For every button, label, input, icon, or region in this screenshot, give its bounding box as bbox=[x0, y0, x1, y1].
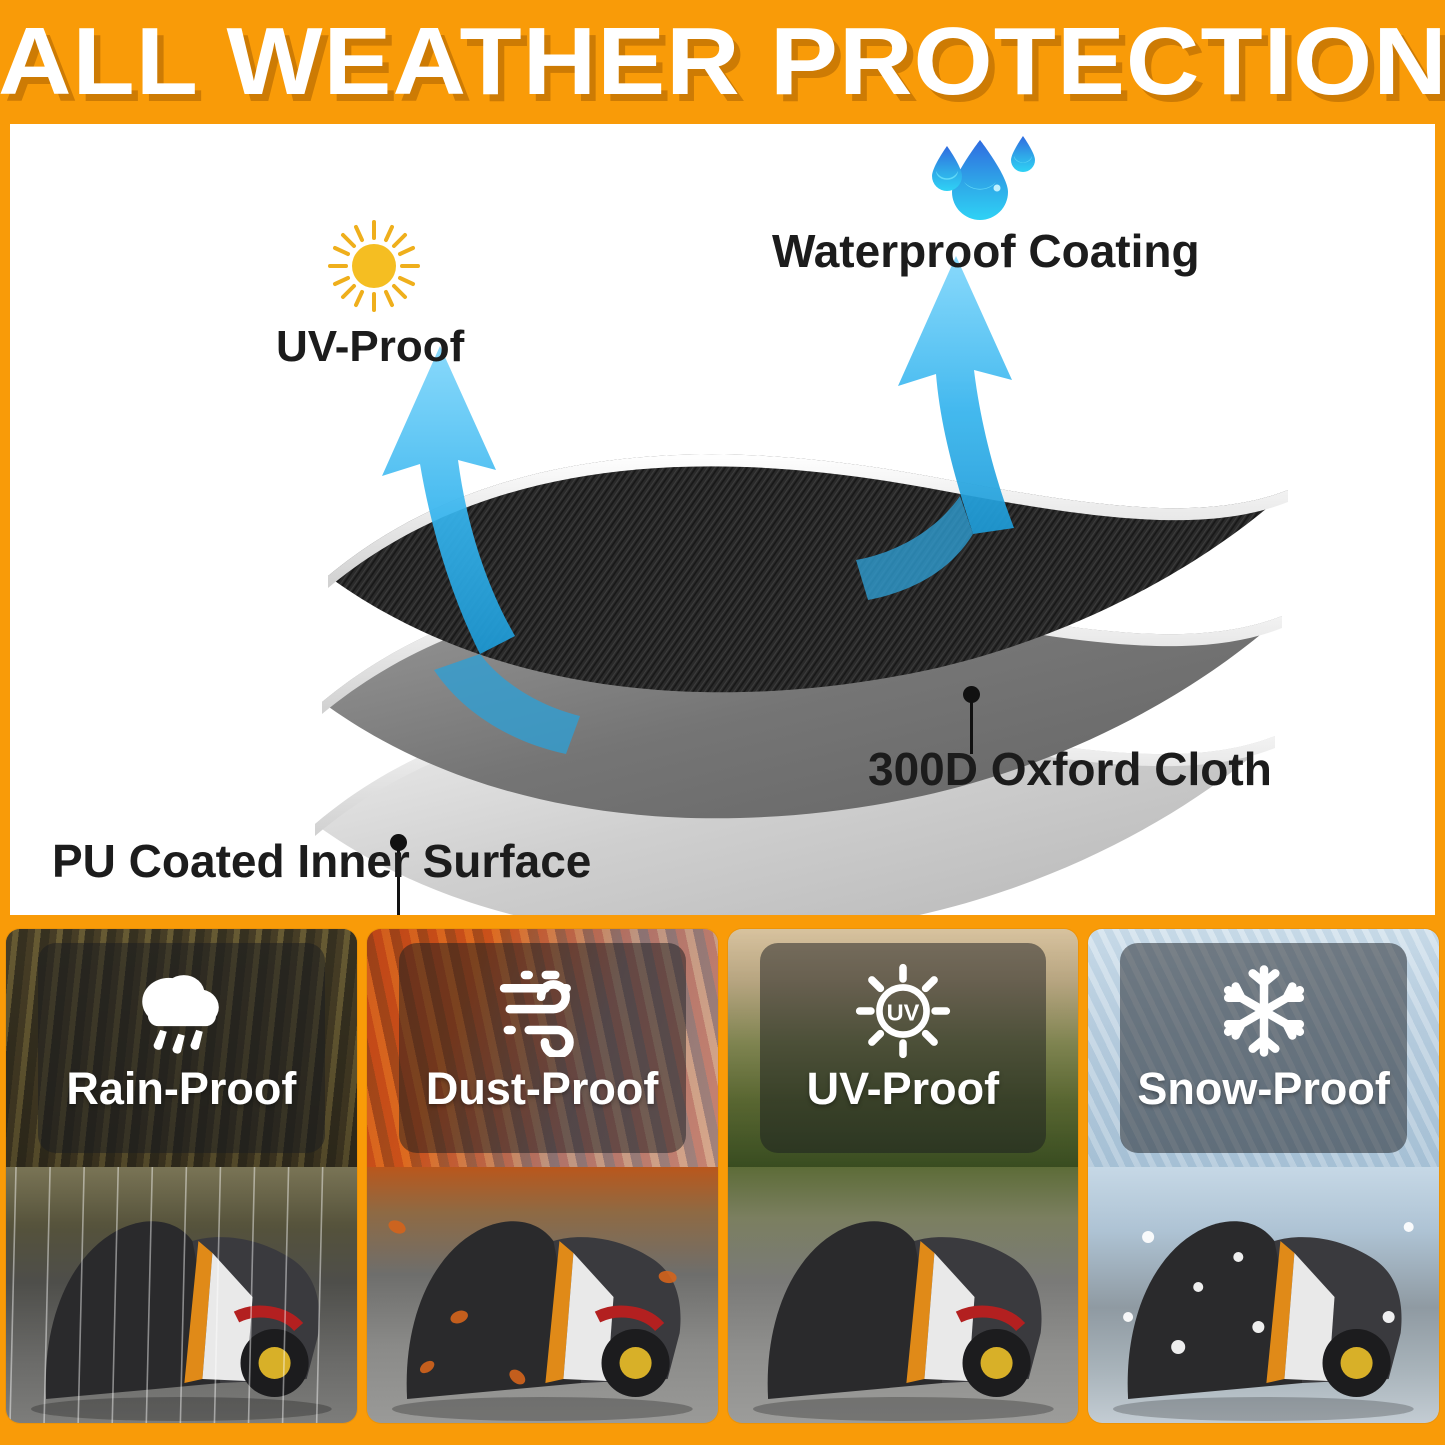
feature-panel-snow-proof[interactable]: Snow-Proof bbox=[1088, 929, 1439, 1423]
label-uv-proof: UV-Proof bbox=[276, 322, 464, 372]
panel-scene-bottom bbox=[1088, 1167, 1439, 1423]
svg-text:UV: UV bbox=[887, 999, 920, 1025]
feature-label: Dust-Proof bbox=[426, 1063, 658, 1115]
label-oxford-cloth: 300D Oxford Cloth bbox=[868, 742, 1272, 796]
feature-label: Snow-Proof bbox=[1137, 1063, 1389, 1115]
page-title: ALL WEATHER PROTECTION bbox=[0, 14, 1445, 110]
label-pu-coated-inner-surface: PU Coated Inner Surface bbox=[52, 834, 591, 888]
feature-label: UV-Proof bbox=[807, 1063, 1000, 1115]
fabric-layers-diagram: UV-Proof Waterproof Coating 300D Oxford … bbox=[10, 124, 1435, 915]
covered-motorcycle-illustration bbox=[1088, 1167, 1439, 1423]
panel-scene-bottom bbox=[6, 1167, 357, 1423]
covered-motorcycle-illustration bbox=[6, 1167, 357, 1423]
sun-uv-icon: UV bbox=[854, 963, 952, 1059]
feature-panel-dust-proof[interactable]: Dust-Proof bbox=[367, 929, 718, 1423]
cloud-rain-icon bbox=[129, 963, 233, 1059]
sun-icon bbox=[326, 218, 422, 314]
infographic-page: ALL WEATHER PROTECTION bbox=[0, 0, 1445, 1445]
feature-panel-uv-proof[interactable]: UV UV-Proof bbox=[728, 929, 1079, 1423]
wind-icon bbox=[487, 963, 597, 1059]
snowflake-icon bbox=[1215, 963, 1313, 1059]
covered-motorcycle-illustration bbox=[728, 1167, 1079, 1423]
feature-label: Rain-Proof bbox=[66, 1063, 296, 1115]
feature-badge: Dust-Proof bbox=[399, 943, 686, 1153]
panel-scene-bottom bbox=[367, 1167, 718, 1423]
feature-panel-rain-proof[interactable]: Rain-Proof bbox=[6, 929, 357, 1423]
panel-scene-bottom bbox=[728, 1167, 1079, 1423]
feature-panels-row: Rain-Proof bbox=[0, 929, 1445, 1429]
feature-badge: Rain-Proof bbox=[38, 943, 325, 1153]
covered-motorcycle-illustration bbox=[367, 1167, 718, 1423]
label-waterproof-coating: Waterproof Coating bbox=[772, 224, 1200, 278]
header-banner: ALL WEATHER PROTECTION bbox=[0, 0, 1445, 124]
fabric-stack-illustration bbox=[10, 124, 1435, 915]
feature-badge: UV UV-Proof bbox=[760, 943, 1047, 1153]
feature-badge: Snow-Proof bbox=[1120, 943, 1407, 1153]
water-drop-icon bbox=[918, 130, 1046, 226]
